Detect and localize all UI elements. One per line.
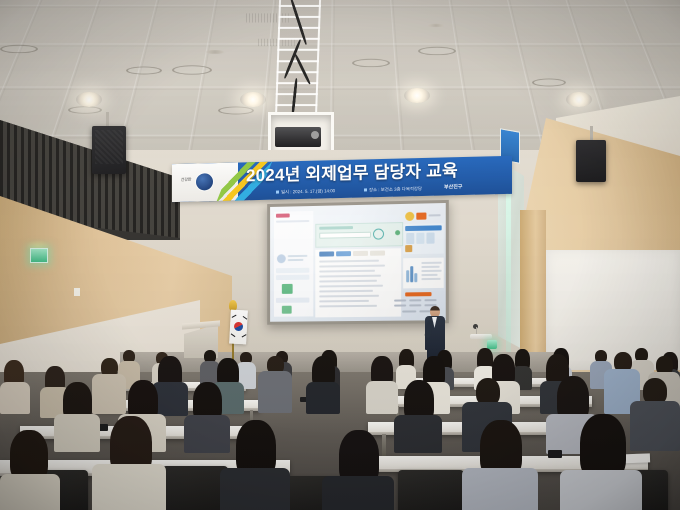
wall-outlet bbox=[74, 288, 80, 296]
banner-datetime: 일시 : 2024. 5. 17.(금) 14:00 bbox=[276, 186, 335, 196]
person-torso bbox=[0, 474, 60, 510]
person-torso bbox=[394, 415, 442, 453]
chair bbox=[162, 466, 228, 510]
person-torso bbox=[92, 464, 166, 510]
audience-person bbox=[394, 380, 442, 448]
trigram bbox=[242, 334, 247, 337]
ring-light bbox=[0, 45, 38, 53]
downlight bbox=[76, 92, 102, 107]
projector-truss bbox=[277, 0, 315, 124]
downlight bbox=[404, 88, 430, 103]
audience-person bbox=[258, 356, 292, 412]
speaker-mount bbox=[590, 126, 593, 140]
ceiling-vent bbox=[206, 50, 224, 54]
audience-person bbox=[322, 430, 394, 510]
person-torso bbox=[462, 468, 538, 510]
person-torso bbox=[322, 476, 394, 510]
ceiling-vent bbox=[428, 24, 444, 28]
trigram bbox=[231, 333, 236, 337]
banner-organization: 부산진구 bbox=[444, 183, 462, 192]
seminar-photo: 건강한 2024년 외제업무 담당자 교육 일시 : 2024. 5. 17.(… bbox=[0, 0, 680, 510]
banner-place: 장소 : 보건소 3층 다목적강당 bbox=[364, 184, 422, 194]
ring-light bbox=[218, 107, 254, 115]
banner-datetime-text: 일시 : 2024. 5. 17.(금) 14:00 bbox=[281, 188, 335, 194]
projector-lens bbox=[311, 131, 319, 139]
ring-light bbox=[172, 65, 212, 74]
audience-person bbox=[0, 360, 30, 410]
trigram bbox=[232, 315, 237, 318]
speaker-icon bbox=[92, 126, 126, 174]
person-torso bbox=[0, 382, 30, 414]
taegeuk-symbol bbox=[234, 322, 243, 331]
banner-logo-label: 건강한 bbox=[177, 177, 195, 187]
audience-person bbox=[0, 430, 60, 510]
screen-surface bbox=[270, 203, 446, 322]
audience-person bbox=[306, 356, 340, 412]
person-torso bbox=[560, 470, 642, 510]
person-torso bbox=[306, 382, 340, 414]
screen-sheen bbox=[270, 203, 446, 322]
ring-light bbox=[418, 47, 456, 55]
projection-screen bbox=[267, 200, 449, 325]
person-torso bbox=[258, 371, 292, 413]
trigram bbox=[243, 316, 248, 320]
ring-light bbox=[352, 59, 390, 67]
audience-person bbox=[462, 420, 538, 510]
banner-place-text: 장소 : 보건소 3층 다목적강당 bbox=[369, 186, 422, 192]
ring-light bbox=[68, 106, 102, 114]
speaker-mesh bbox=[95, 130, 123, 164]
downlight bbox=[240, 92, 266, 107]
wall-fixture bbox=[470, 334, 492, 339]
audience-person bbox=[560, 414, 642, 510]
ring-light bbox=[532, 79, 566, 87]
ring-light bbox=[126, 67, 162, 75]
audience-person bbox=[220, 420, 290, 510]
chair bbox=[398, 470, 464, 510]
audience-person bbox=[92, 416, 166, 510]
korean-flag bbox=[229, 310, 248, 345]
downlight bbox=[566, 92, 592, 107]
ceiling-projector-icon bbox=[275, 127, 321, 147]
speaker-icon bbox=[576, 140, 606, 182]
person-torso bbox=[220, 468, 290, 510]
exit-sign-icon bbox=[30, 248, 48, 263]
